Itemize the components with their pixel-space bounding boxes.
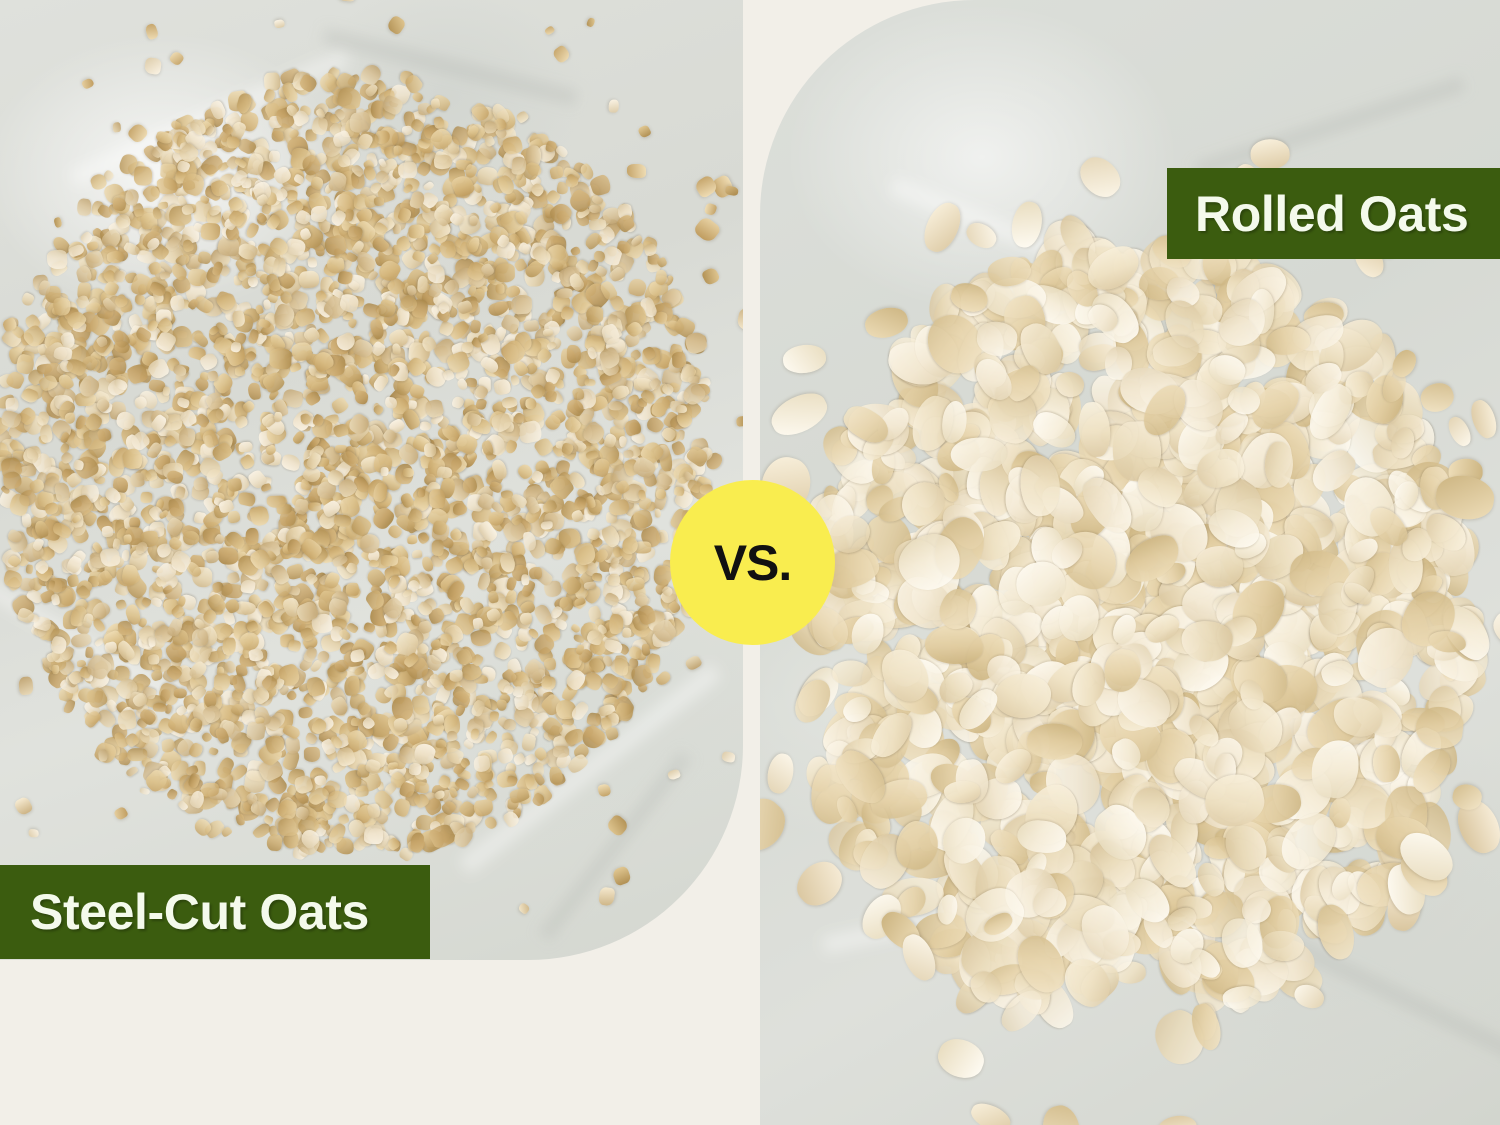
rolled-oats-heap xyxy=(800,230,1480,1040)
marble-vein xyxy=(1195,77,1466,177)
label-steel-cut-oats: Steel-Cut Oats xyxy=(0,865,430,959)
steel-cut-oats-heap xyxy=(0,70,714,860)
versus-badge-text: VS. xyxy=(714,538,792,588)
label-rolled-oats: Rolled Oats xyxy=(1167,168,1500,259)
marble-vein xyxy=(322,29,578,105)
marble-vein xyxy=(70,50,351,187)
marble-vein xyxy=(1242,915,1500,1059)
marble-vein xyxy=(458,663,721,874)
marble-vein xyxy=(1338,457,1461,675)
versus-badge: VS. xyxy=(670,480,835,645)
label-steel-cut-oats-text: Steel-Cut Oats xyxy=(30,887,369,937)
label-rolled-oats-text: Rolled Oats xyxy=(1195,189,1468,239)
marble-vein xyxy=(539,752,690,941)
panel-steel-cut-oats xyxy=(0,0,743,960)
comparison-graphic: Steel-Cut Oats Rolled Oats VS. xyxy=(0,0,1500,1125)
marble-vein xyxy=(889,177,1211,321)
marble-vein xyxy=(822,863,1177,953)
marble-vein xyxy=(0,576,206,718)
